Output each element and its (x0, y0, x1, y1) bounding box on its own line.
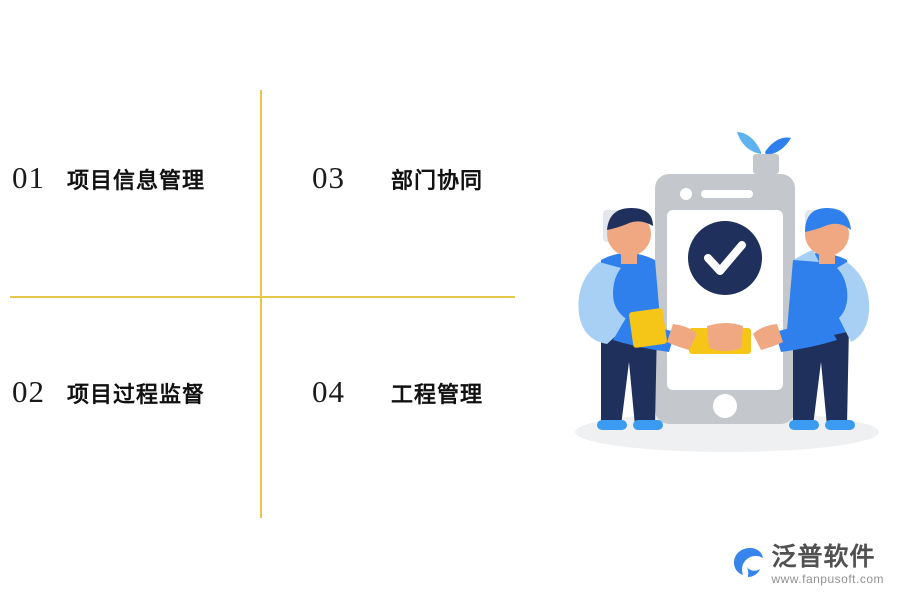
quadrant-item-04[interactable]: 04 工程管理 (312, 374, 483, 410)
logo-website-url: www.fanpusoft.com (771, 572, 884, 586)
quadrant-item-01-number: 01 (12, 160, 45, 196)
quadrant-item-02-number: 02 (12, 374, 45, 410)
quadrant-item-04-label: 工程管理 (391, 377, 483, 409)
plant-icon (737, 132, 791, 174)
logo-company-name: 泛普软件 (771, 544, 875, 570)
quadrant-item-01-label: 项目信息管理 (67, 163, 205, 195)
illustration-handshake-phone (555, 110, 895, 460)
logo-mark-icon (731, 546, 765, 580)
quadrant-item-02[interactable]: 02 项目过程监督 (12, 374, 205, 410)
check-badge-icon (688, 221, 762, 295)
logo-text-block: 泛普软件 www.fanpusoft.com (771, 544, 884, 586)
quadrant-item-02-label: 项目过程监督 (67, 377, 205, 409)
quadrant-item-01[interactable]: 01 项目信息管理 (12, 160, 205, 196)
slide-canvas: 01 项目信息管理 02 项目过程监督 03 部门协同 04 工程管理 (0, 0, 900, 600)
quadrant-item-03-label: 部门协同 (391, 163, 483, 195)
quadrant-item-03[interactable]: 03 部门协同 (312, 160, 483, 196)
quadrant-item-03-number: 03 (312, 160, 345, 196)
quadrant-divider-vertical (260, 90, 262, 518)
quadrant-item-04-number: 04 (312, 374, 345, 410)
quadrant-divider-horizontal (10, 296, 515, 298)
brand-logo: 泛普软件 www.fanpusoft.com (731, 544, 884, 586)
